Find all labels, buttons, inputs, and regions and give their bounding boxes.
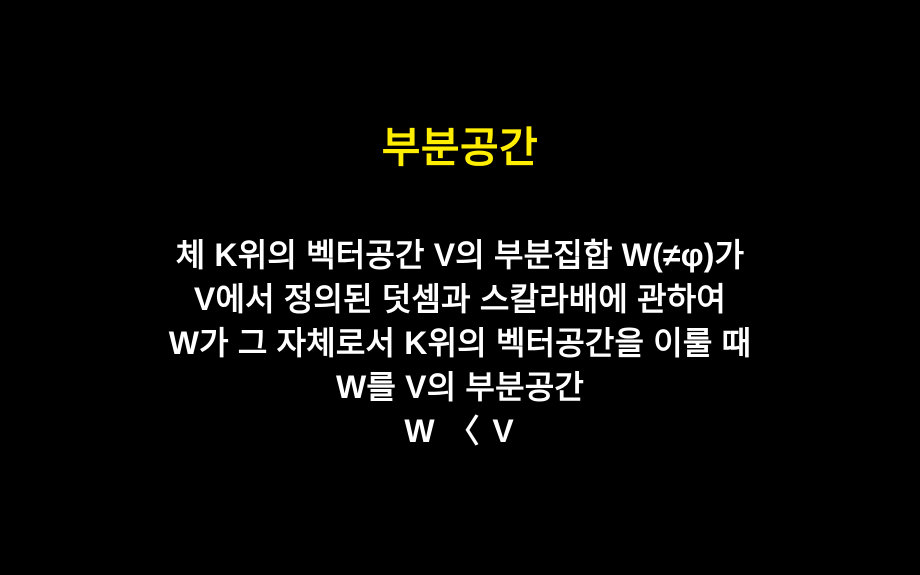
slide-title: 부분공간 [382,126,539,170]
definition-body: 체 K위의 벡터공간 V의 부분집합 W(≠φ)가 V에서 정의된 덧셈과 스칼… [0,233,920,453]
definition-line-3: W가 그 자체로서 K위의 벡터공간을 이룰 때 [0,321,920,365]
definition-line-2: V에서 정의된 덧셈과 스칼라배에 관하여 [0,277,920,321]
definition-line-1: 체 K위의 벡터공간 V의 부분집합 W(≠φ)가 [0,233,920,277]
definition-line-5-notation: W 〈 V [0,409,920,453]
definition-line-4: W를 V의 부분공간 [0,365,920,409]
presentation-slide: 부분공간 체 K위의 벡터공간 V의 부분집합 W(≠φ)가 V에서 정의된 덧… [0,0,920,575]
title-block: 부분공간 [0,126,920,170]
